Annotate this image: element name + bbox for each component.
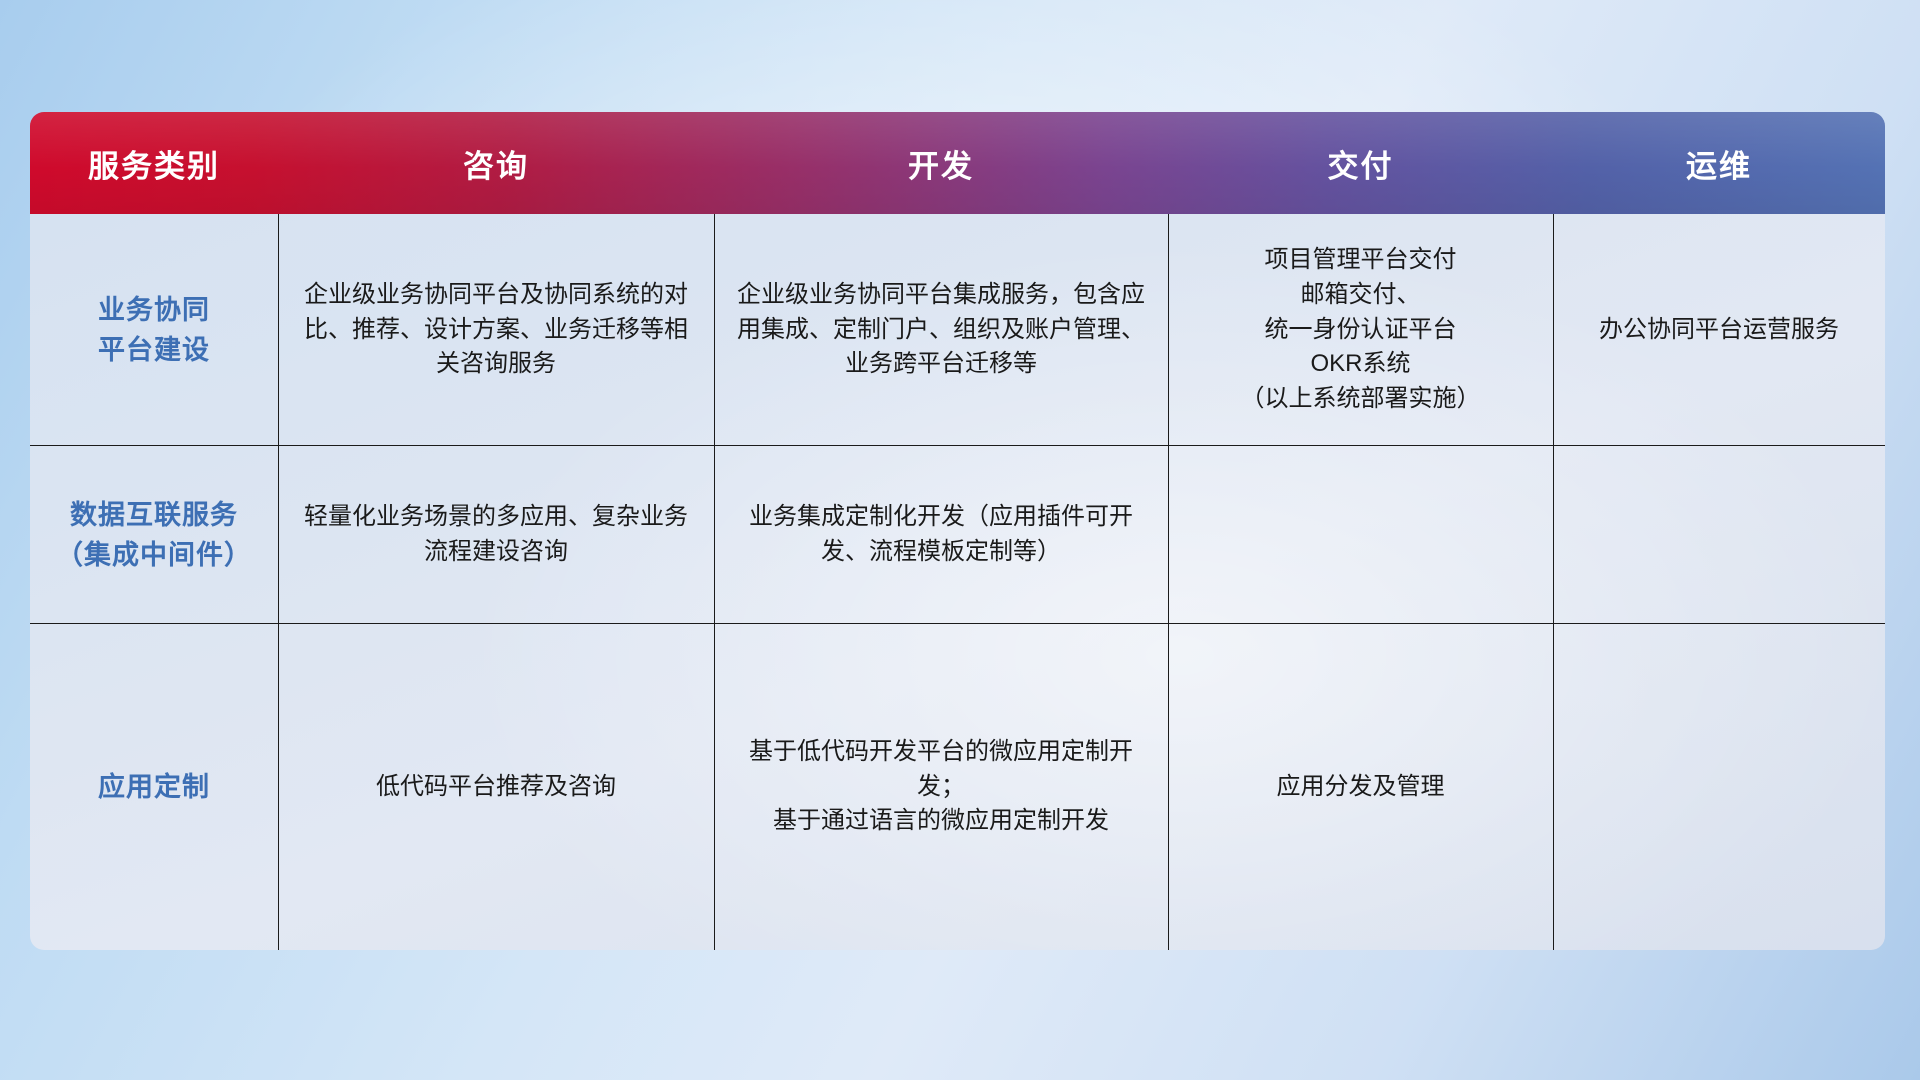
row-label-line-2: 平台建设: [98, 330, 210, 371]
cell-row3-delivery: 应用分发及管理: [1168, 624, 1553, 950]
row-label-line-2: （集成中间件）: [56, 535, 252, 576]
cell-row1-consulting-text: 企业级业务协同平台及协同系统的对比、推荐、设计方案、业务迁移等相关咨询服务: [296, 278, 696, 382]
cell-row2-consulting-text: 轻量化业务场景的多应用、复杂业务流程建设咨询: [296, 500, 696, 570]
table-body: 业务协同 平台建设 企业级业务协同平台及协同系统的对比、推荐、设计方案、业务迁移…: [30, 214, 1885, 950]
cell-row2-development: 业务集成定制化开发（应用插件可开发、流程模板定制等）: [714, 446, 1168, 624]
row-label-application-customization: 应用定制: [30, 624, 278, 950]
cell-row1-development: 企业级业务协同平台集成服务，包含应用集成、定制门户、组织及账户管理、业务跨平台迁…: [714, 214, 1168, 446]
row-label-business-collaboration: 业务协同 平台建设: [30, 214, 278, 446]
column-header-delivery: 交付: [1168, 112, 1553, 214]
column-header-category: 服务类别: [30, 112, 278, 214]
cell-row1-consulting: 企业级业务协同平台及协同系统的对比、推荐、设计方案、业务迁移等相关咨询服务: [278, 214, 714, 446]
cell-row3-consulting-text: 低代码平台推荐及咨询: [376, 770, 616, 805]
cell-row3-delivery-text: 应用分发及管理: [1277, 770, 1445, 805]
row-label-data-interconnection: 数据互联服务 （集成中间件）: [30, 446, 278, 624]
column-header-category-label: 服务类别: [88, 141, 220, 186]
cell-row1-delivery: 项目管理平台交付 邮箱交付、 统一身份认证平台 OKR系统 （以上系统部署实施）: [1168, 214, 1553, 446]
service-matrix-table: 服务类别 咨询 开发 交付 运维 业务协同 平台建设: [30, 112, 1885, 950]
row-label-line-1: 应用定制: [98, 767, 210, 808]
table-row: 业务协同 平台建设 企业级业务协同平台及协同系统的对比、推荐、设计方案、业务迁移…: [30, 214, 1885, 446]
cell-row3-development: 基于低代码开发平台的微应用定制开发； 基于通过语言的微应用定制开发: [714, 624, 1168, 950]
cell-row1-operations: 办公协同平台运营服务: [1553, 214, 1885, 446]
row-label-line-1: 业务协同: [98, 290, 210, 331]
row-label-line-1: 数据互联服务: [56, 495, 252, 536]
column-header-development-label: 开发: [908, 141, 974, 186]
cell-row3-consulting: 低代码平台推荐及咨询: [278, 624, 714, 950]
slide-canvas: 服务类别 咨询 开发 交付 运维 业务协同 平台建设: [0, 0, 1920, 1080]
cell-row2-consulting: 轻量化业务场景的多应用、复杂业务流程建设咨询: [278, 446, 714, 624]
cell-row2-development-text: 业务集成定制化开发（应用插件可开发、流程模板定制等）: [732, 500, 1150, 570]
cell-row1-operations-text: 办公协同平台运营服务: [1599, 313, 1839, 348]
cell-row1-development-text: 企业级业务协同平台集成服务，包含应用集成、定制门户、组织及账户管理、业务跨平台迁…: [732, 278, 1150, 382]
cell-row2-operations: [1553, 446, 1885, 624]
table-row: 数据互联服务 （集成中间件） 轻量化业务场景的多应用、复杂业务流程建设咨询 业务…: [30, 446, 1885, 624]
table-row: 应用定制 低代码平台推荐及咨询 基于低代码开发平台的微应用定制开发； 基于通过语…: [30, 624, 1885, 950]
column-header-consulting: 咨询: [278, 112, 714, 214]
column-header-consulting-label: 咨询: [463, 141, 529, 186]
cell-row2-delivery: [1168, 446, 1553, 624]
column-header-operations-label: 运维: [1686, 141, 1752, 186]
table-header-row: 服务类别 咨询 开发 交付 运维: [30, 112, 1885, 214]
column-header-development: 开发: [714, 112, 1168, 214]
cell-row3-operations: [1553, 624, 1885, 950]
cell-row1-delivery-text: 项目管理平台交付 邮箱交付、 统一身份认证平台 OKR系统 （以上系统部署实施）: [1241, 243, 1481, 417]
column-header-delivery-label: 交付: [1328, 141, 1394, 186]
column-header-operations: 运维: [1553, 112, 1885, 214]
cell-row3-development-text: 基于低代码开发平台的微应用定制开发； 基于通过语言的微应用定制开发: [732, 735, 1150, 839]
